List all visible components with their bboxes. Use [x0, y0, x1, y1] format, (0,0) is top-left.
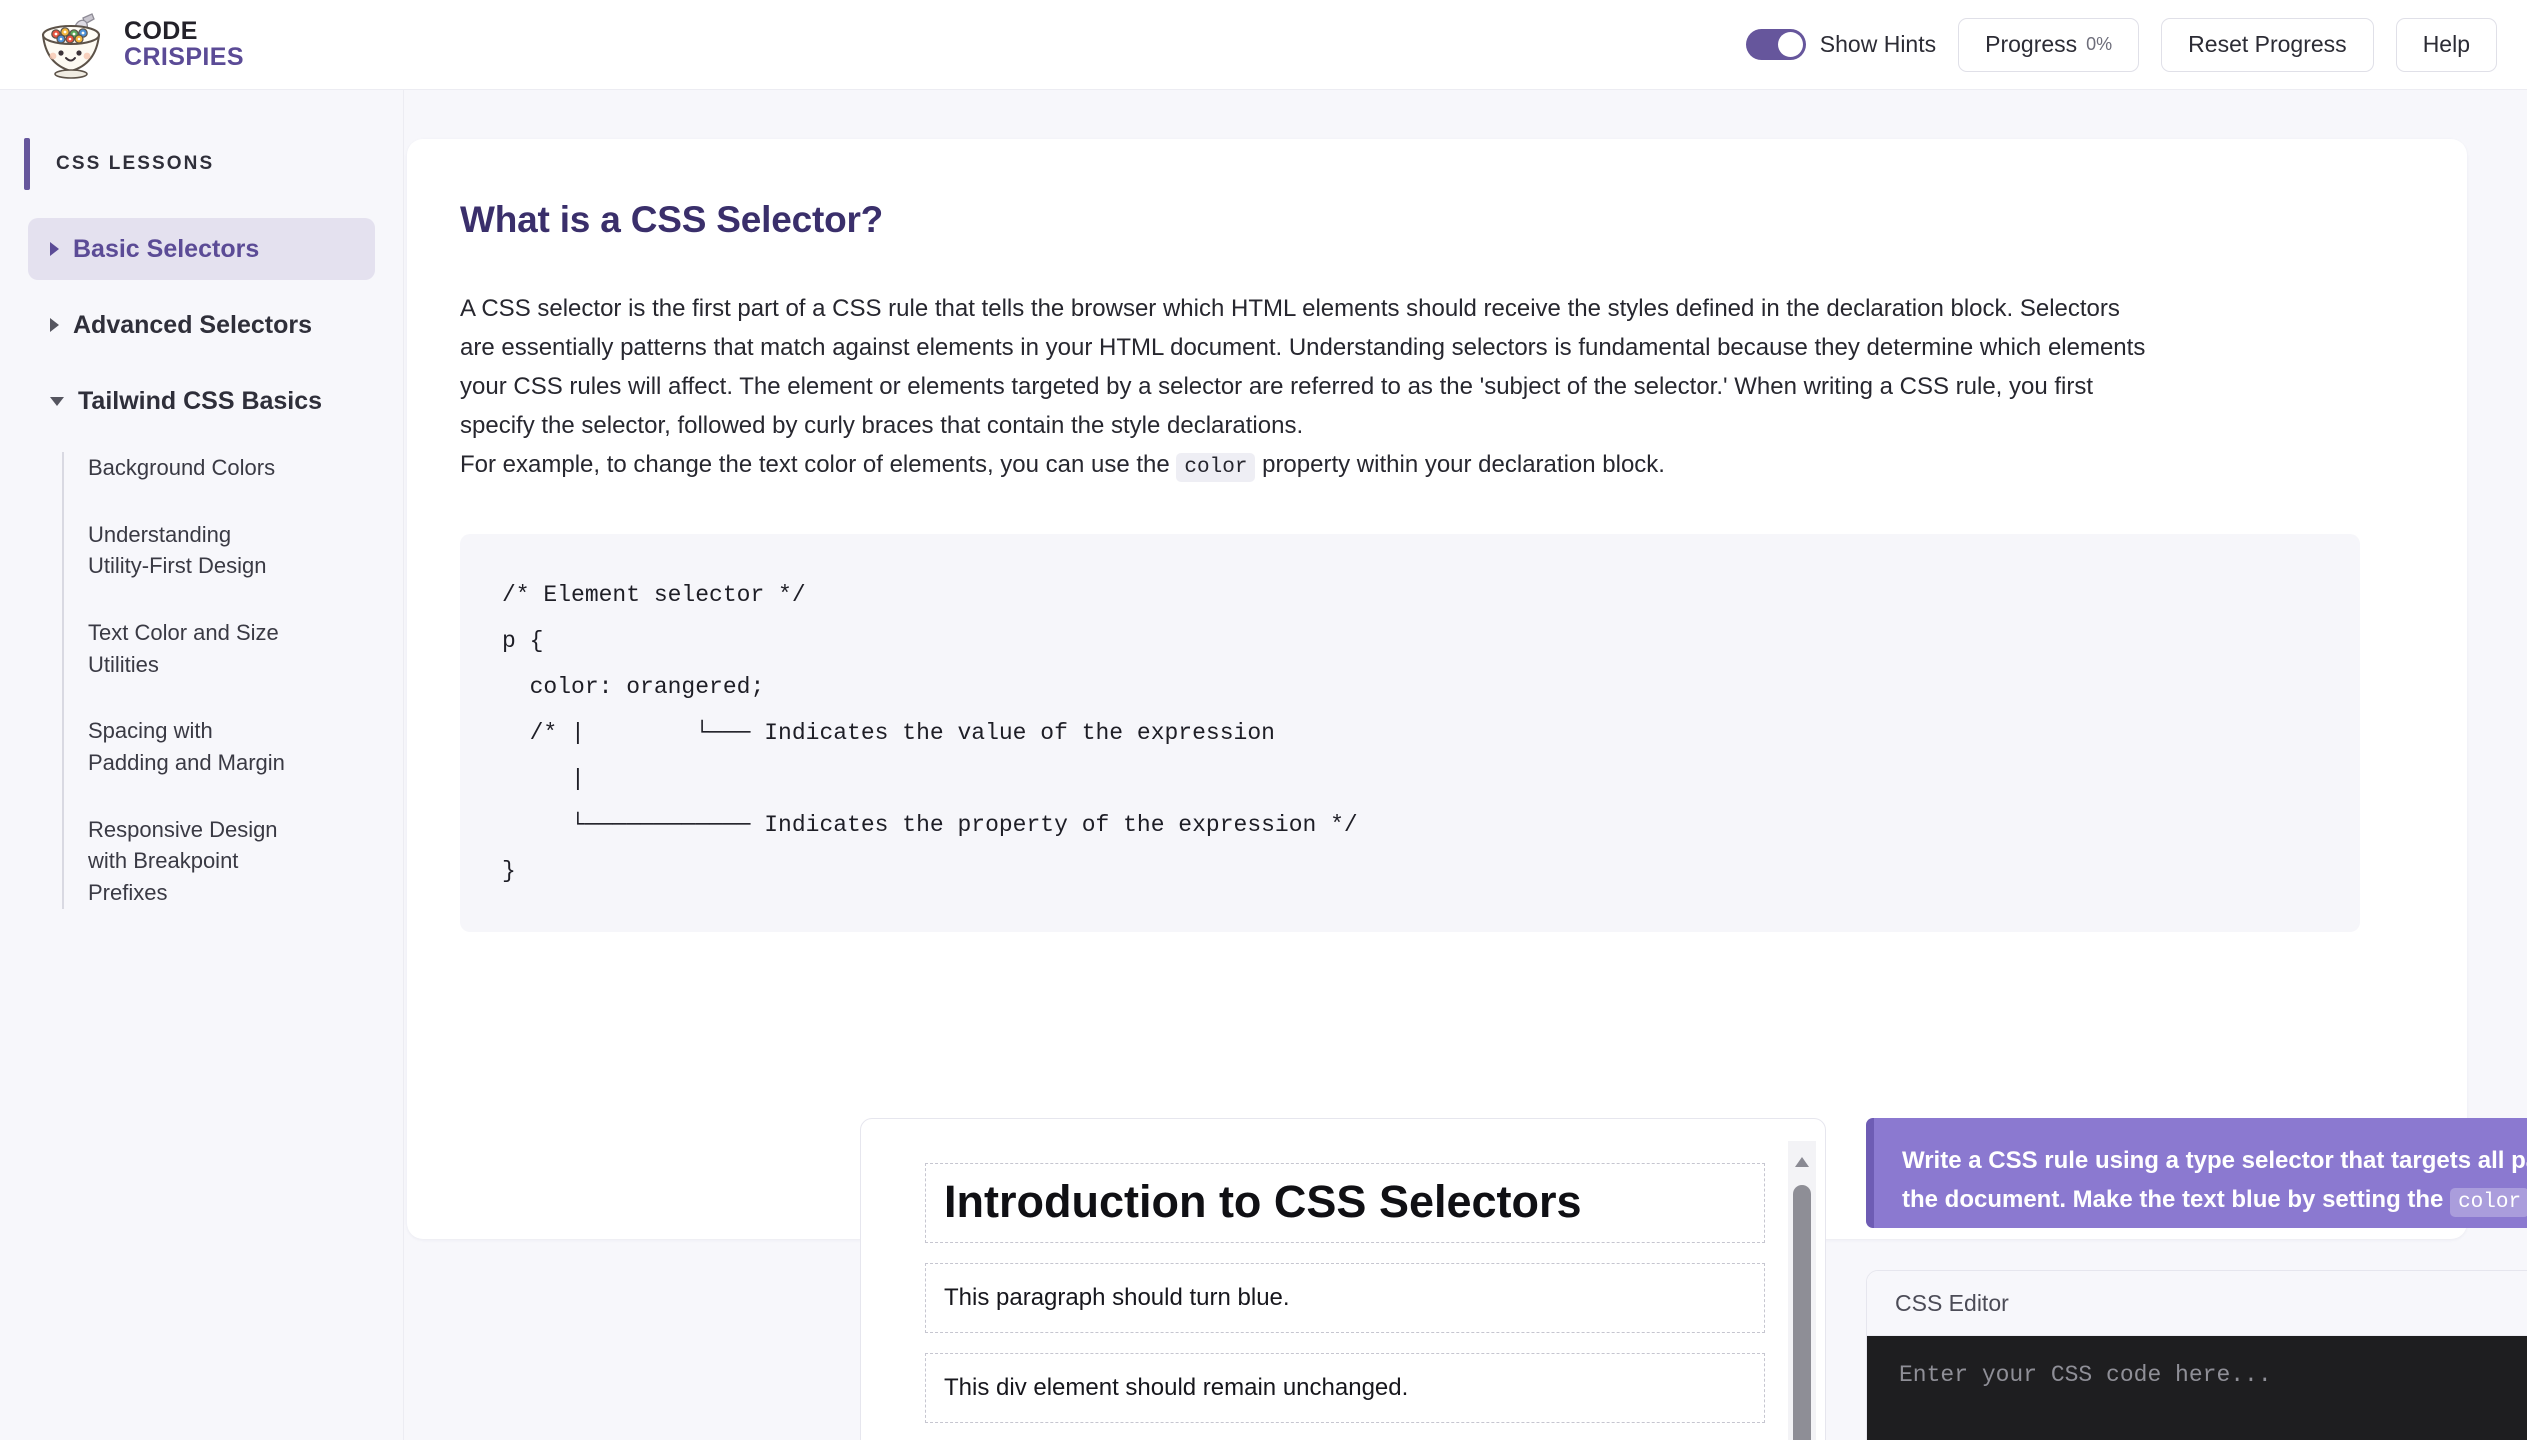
task-instruction-text: Write a CSS rule using a type selector t… — [1902, 1142, 2527, 1219]
preview-heading: Introduction to CSS Selectors — [925, 1163, 1765, 1243]
lessons-sidebar: CSS LESSONS Basic Selectors Advanced Sel… — [0, 90, 404, 1440]
sidebar-title: CSS LESSONS — [56, 153, 214, 175]
progress-button[interactable]: Progress 0% — [1958, 18, 2139, 72]
chevron-right-icon — [50, 318, 59, 332]
sidebar-item-understanding-utility-first-design[interactable]: Understanding Utility-First Design — [88, 519, 286, 582]
css-editor-toolbar: CSS Editor Run — [1867, 1271, 2527, 1336]
header-actions: Show Hints Progress 0% Reset Progress He… — [1746, 18, 2497, 72]
lesson-card: What is a CSS Selector? A CSS selector i… — [407, 139, 2467, 1239]
html-preview-panel: Introduction to CSS Selectors This parag… — [860, 1118, 1826, 1440]
paragraph-2-prefix: For example, to change the text color of… — [460, 451, 1176, 478]
brand-name-line2: CRISPIES — [124, 45, 244, 71]
chevron-right-icon — [50, 242, 59, 256]
lesson-nav: Basic Selectors Advanced Selectors Tailw… — [0, 218, 403, 909]
page-title: What is a CSS Selector? — [460, 199, 2467, 241]
sidebar-sublist: Background Colors Understanding Utility-… — [62, 452, 403, 909]
brand-logo[interactable]: CODE CRISPIES — [34, 8, 244, 82]
sidebar-header: CSS LESSONS — [0, 138, 403, 190]
sidebar-item-spacing-with-padding-and-margin[interactable]: Spacing with Padding and Margin — [88, 715, 286, 778]
sidebar-group-advanced-selectors[interactable]: Advanced Selectors — [28, 294, 375, 356]
css-editor-placeholder: Enter your CSS code here... — [1899, 1362, 2527, 1388]
sidebar-group-label: Basic Selectors — [73, 235, 259, 264]
task-instruction-panel: Write a CSS rule using a type selector t… — [1866, 1118, 2527, 1228]
main-content: What is a CSS Selector? A CSS selector i… — [404, 90, 2527, 1440]
preview-div: This div element should remain unchanged… — [925, 1353, 1765, 1423]
css-editor-title: CSS Editor — [1895, 1290, 2009, 1317]
reset-progress-button[interactable]: Reset Progress — [2161, 18, 2374, 72]
sidebar-item-responsive-design-with-breakpoint-prefixes[interactable]: Responsive Design with Breakpoint Prefix… — [88, 814, 286, 909]
sidebar-group-label: Tailwind CSS Basics — [78, 387, 322, 416]
toggle-knob — [1778, 32, 1803, 57]
lesson-intro: A CSS selector is the first part of a CS… — [460, 289, 2160, 486]
preview-content: Introduction to CSS Selectors This parag… — [861, 1119, 1825, 1440]
progress-label: Progress — [1985, 31, 2077, 58]
scroll-up-arrow-icon[interactable] — [1795, 1157, 1809, 1167]
paragraph-2-suffix: property within your declaration block. — [1255, 451, 1665, 478]
cereal-bowl-icon — [34, 8, 108, 82]
brand-name-line1: CODE — [124, 19, 244, 45]
sidebar-group-tailwind-css-basics[interactable]: Tailwind CSS Basics — [28, 370, 375, 432]
chevron-down-icon — [50, 397, 64, 406]
lesson-paragraph-1: A CSS selector is the first part of a CS… — [460, 289, 2160, 445]
sidebar-group-basic-selectors[interactable]: Basic Selectors — [28, 218, 375, 280]
show-hints-label: Show Hints — [1820, 31, 1936, 58]
inline-code-color: color — [1176, 453, 1255, 482]
preview-scrollbar[interactable] — [1788, 1141, 1816, 1440]
show-hints-toggle[interactable] — [1746, 29, 1806, 60]
sidebar-item-background-colors[interactable]: Background Colors — [88, 452, 286, 484]
preview-paragraph: This paragraph should turn blue. — [925, 1263, 1765, 1333]
help-button[interactable]: Help — [2396, 18, 2497, 72]
sidebar-group-label: Advanced Selectors — [73, 311, 312, 340]
scrollbar-thumb[interactable] — [1793, 1185, 1811, 1440]
task-text-1: Write a CSS rule using a type selector t… — [1902, 1147, 2527, 1174]
show-hints-toggle-group[interactable]: Show Hints — [1746, 29, 1936, 60]
task-code-color: color — [2450, 1188, 2527, 1217]
lesson-code-sample: /* Element selector */ p { color: orange… — [460, 534, 2360, 932]
lesson-paragraph-2: For example, to change the text color of… — [460, 445, 2160, 485]
css-code-textarea[interactable]: Enter your CSS code here... — [1867, 1336, 2527, 1440]
sidebar-item-text-color-and-size-utilities[interactable]: Text Color and Size Utilities — [88, 617, 286, 680]
app-header: CODE CRISPIES Show Hints Progress 0% Res… — [0, 0, 2527, 90]
progress-value: 0% — [2086, 34, 2112, 55]
css-editor-panel: CSS Editor Run Enter your CSS code here.… — [1866, 1270, 2527, 1440]
